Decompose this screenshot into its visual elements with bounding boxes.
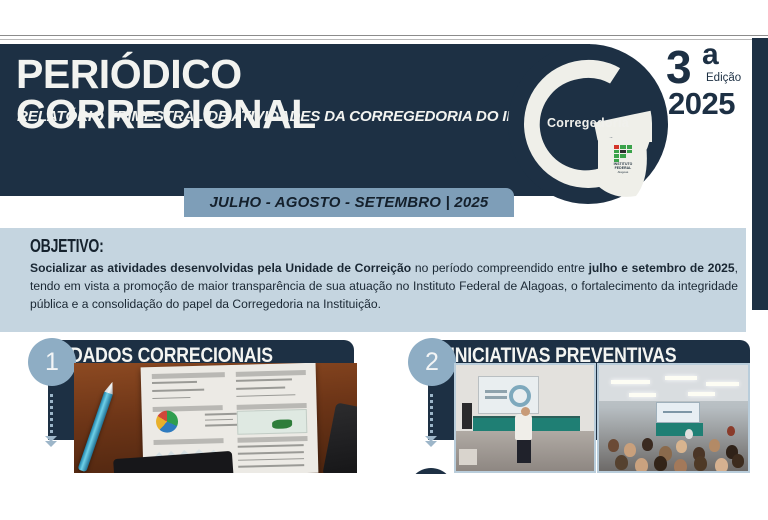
page-title-line1: PERIÓDICO bbox=[16, 51, 242, 97]
objective-heading: OBJETIVO: bbox=[30, 236, 104, 257]
periodico-correcional-page: PERIÓDICO CORRECIONAL RELATÓRIO TRIMESTR… bbox=[0, 0, 768, 520]
page-subtitle: RELATÓRIO TRIMESTRAL DE ATIVIDADES DA CO… bbox=[17, 108, 534, 125]
map-thumbnail bbox=[236, 409, 307, 435]
edition-year: 2025 bbox=[668, 88, 735, 119]
ifal-label: INSTITUTO FEDERAL Alagoas bbox=[614, 163, 633, 174]
corregedoria-logo: Corregedoria INSTITUTO FEDERAL Alagoas bbox=[508, 44, 668, 204]
section-2-chevron-icon-2 bbox=[425, 441, 437, 447]
objective-panel: OBJETIVO: Socializar as atividades desen… bbox=[0, 228, 746, 332]
section-1-chevron-icon-2 bbox=[45, 441, 57, 447]
section-1-dotted-connector bbox=[50, 394, 54, 440]
projection-screen-2 bbox=[656, 402, 701, 423]
section-1-photo-report-desk bbox=[74, 363, 357, 473]
section-2-number-badge[interactable]: 2 bbox=[408, 338, 456, 386]
objective-bold-2: julho e setembro de 2025 bbox=[589, 261, 735, 275]
section-2-photo-speaker bbox=[454, 363, 596, 473]
projection-screen bbox=[478, 376, 539, 414]
ifal-institutional-mark: INSTITUTO FEDERAL Alagoas bbox=[606, 145, 640, 179]
objective-bold-1: Socializar as atividades desenvolvidas p… bbox=[30, 261, 411, 275]
section-1-number-badge[interactable]: 1 bbox=[28, 338, 76, 386]
top-divider-rule-outer bbox=[0, 35, 768, 36]
objective-body: Socializar as atividades desenvolvidas p… bbox=[30, 260, 738, 314]
ifal-label-line3: Alagoas bbox=[614, 171, 633, 174]
period-ribbon: JULHO - AGOSTO - SETEMBRO | 2025 bbox=[184, 188, 514, 217]
right-accent-bar bbox=[752, 38, 768, 310]
logo-g-ring-icon bbox=[508, 44, 668, 204]
auditorium-speaker-scene bbox=[456, 365, 594, 471]
section-2-dotted-connector bbox=[430, 394, 434, 440]
period-label: JULHO - AGOSTO - SETEMBRO | 2025 bbox=[184, 188, 514, 217]
objective-mid-1: no período compreendido entre bbox=[411, 261, 588, 275]
edition-word: Edição bbox=[706, 73, 741, 85]
edition-number: 3 bbox=[666, 44, 691, 90]
ifal-grid-icon bbox=[614, 145, 633, 162]
top-divider-rule-inner bbox=[0, 39, 768, 40]
section-2-photo-audience bbox=[597, 363, 750, 473]
auditorium-audience-scene bbox=[599, 365, 748, 471]
green-table-cloth-2 bbox=[656, 423, 704, 436]
edition-ordinal: a bbox=[702, 40, 719, 70]
pie-chart-thumbnail bbox=[156, 411, 179, 434]
page-bottom-crop bbox=[0, 474, 768, 520]
edition-badge: 3 a Edição 2025 bbox=[666, 44, 752, 134]
